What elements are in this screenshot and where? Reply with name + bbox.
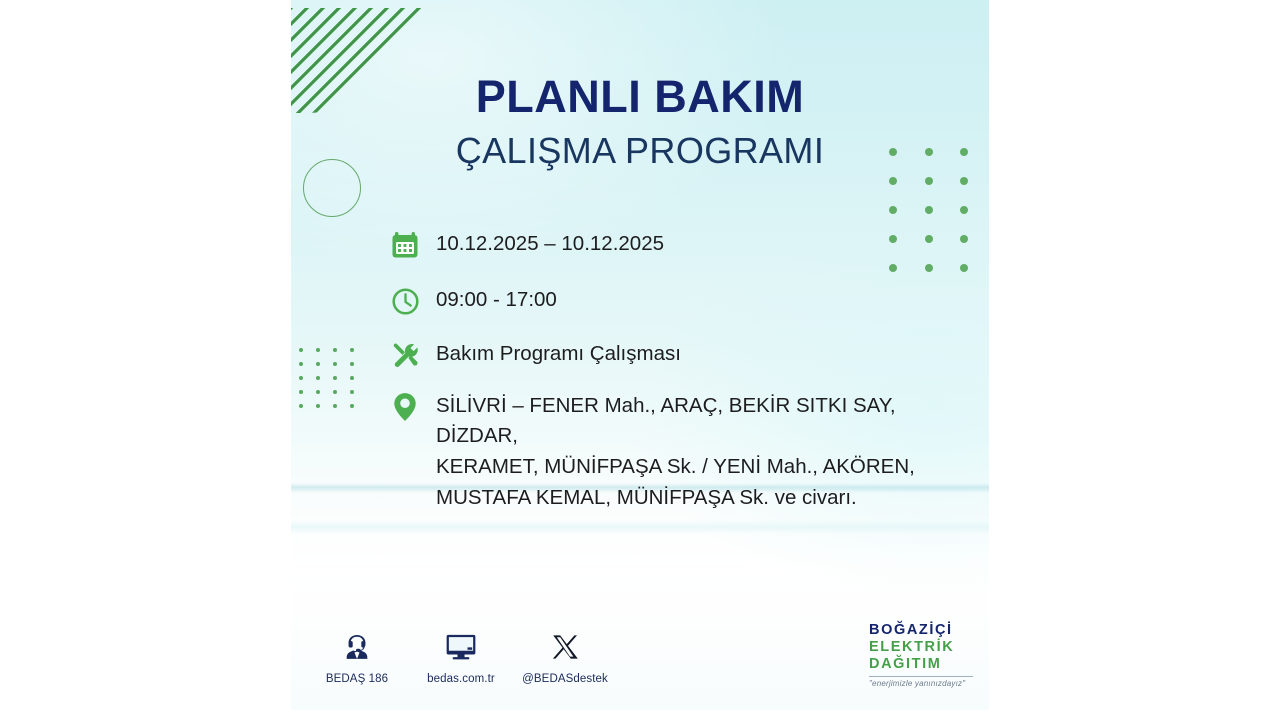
map-pin-icon xyxy=(388,390,422,424)
tools-icon xyxy=(388,338,422,372)
detail-row-time: 09:00 - 17:00 xyxy=(388,284,978,318)
contact-social[interactable]: @BEDASdestek xyxy=(519,630,611,685)
detail-row-date: 10.12.2025 – 10.12.2025 xyxy=(388,228,978,262)
poster-stage: PLANLI BAKIM ÇALIŞMA PROGRAMI xyxy=(0,0,1280,720)
work-type-value: Bakım Programı Çalışması xyxy=(436,338,681,369)
dot-grid-left-decoration xyxy=(299,348,361,410)
page-subtitle: ÇALIŞMA PROGRAMI xyxy=(291,133,989,169)
footer-contacts: BEDAŞ 186 bedas.com.tr xyxy=(311,630,611,685)
page-title: PLANLI BAKIM xyxy=(291,74,989,119)
detail-row-work-type: Bakım Programı Çalışması xyxy=(388,338,978,372)
x-twitter-icon xyxy=(519,630,611,664)
headset-support-icon xyxy=(311,630,403,664)
detail-row-location: SİLİVRİ – FENER Mah., ARAÇ, BEKİR SITKI … xyxy=(388,390,978,513)
location-line-3: MUSTAFA KEMAL, MÜNİFPAŞA Sk. ve civarı. xyxy=(436,482,978,513)
location-line-1: SİLİVRİ – FENER Mah., ARAÇ, BEKİR SITKI … xyxy=(436,390,978,451)
date-range-value: 10.12.2025 – 10.12.2025 xyxy=(436,228,664,259)
brand-logo: BOĞAZİÇİ ELEKTRİK DAĞITIM "enerjimizle y… xyxy=(869,622,977,688)
calendar-icon xyxy=(388,228,422,262)
brand-line-2: ELEKTRİK xyxy=(869,639,977,656)
brand-divider xyxy=(869,676,973,677)
details-block: 10.12.2025 – 10.12.2025 09:00 - 17:00 xyxy=(388,228,978,513)
clock-icon xyxy=(388,284,422,318)
time-range-value: 09:00 - 17:00 xyxy=(436,284,557,315)
location-line-2: KERAMET, MÜNİFPAŞA Sk. / YENİ Mah., AKÖR… xyxy=(436,451,978,482)
monitor-icon xyxy=(415,630,507,664)
announcement-card: PLANLI BAKIM ÇALIŞMA PROGRAMI xyxy=(291,0,989,710)
contact-website-label: bedas.com.tr xyxy=(415,673,507,685)
contact-website[interactable]: bedas.com.tr xyxy=(415,630,507,685)
location-lines: SİLİVRİ – FENER Mah., ARAÇ, BEKİR SITKI … xyxy=(436,390,978,513)
brand-line-3: DAĞITIM xyxy=(869,656,977,673)
contact-phone[interactable]: BEDAŞ 186 xyxy=(311,630,403,685)
contact-social-label: @BEDASdestek xyxy=(519,673,611,685)
content-divider-secondary xyxy=(291,520,989,534)
brand-tagline: "enerjimizle yanınızdayız" xyxy=(869,679,977,688)
brand-line-1: BOĞAZİÇİ xyxy=(869,622,977,639)
contact-phone-label: BEDAŞ 186 xyxy=(311,673,403,685)
